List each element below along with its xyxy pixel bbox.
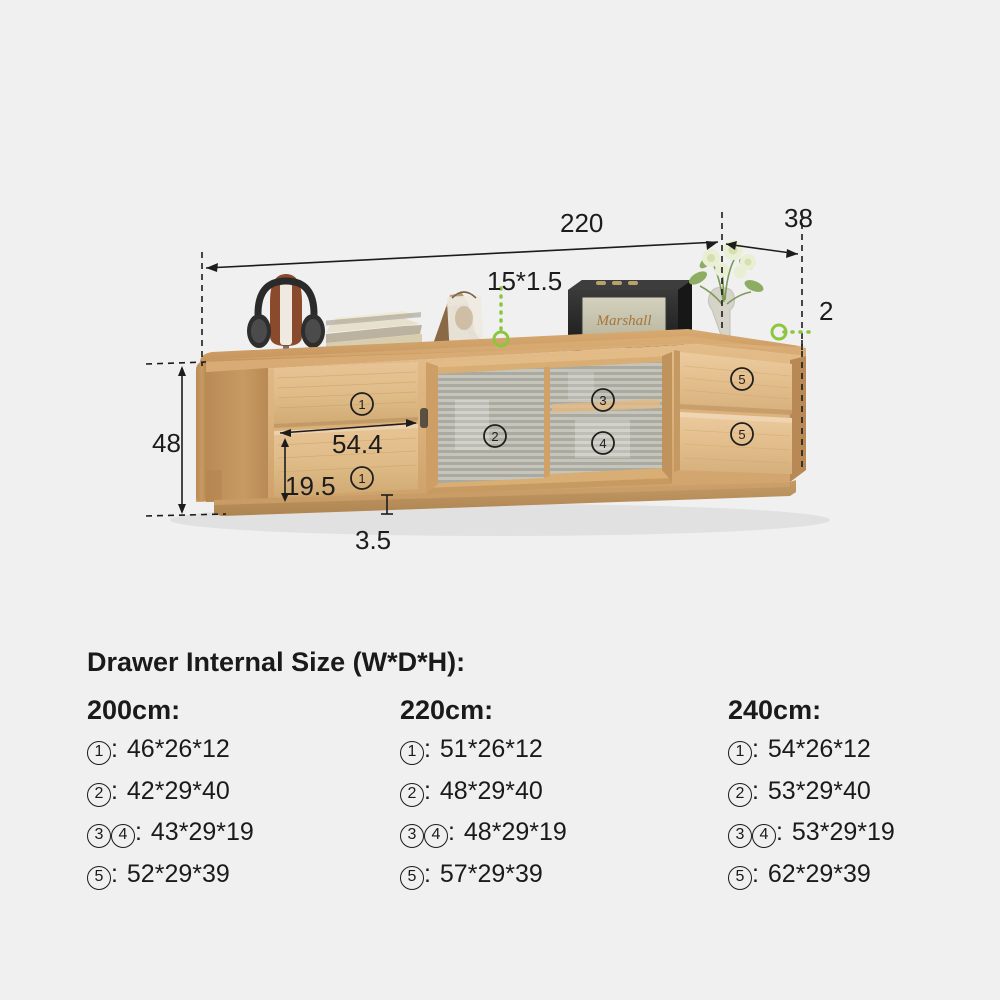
spec-row: 5: 52*29*39 [87,857,254,893]
svg-text:Marshall: Marshall [595,313,651,329]
dimension-label-plinth-3-5: 3.5 [355,527,391,553]
spec-value: 54*26*12 [768,735,871,763]
dimension-label-depth-38: 38 [784,205,813,231]
spec-value: 46*26*12 [127,735,230,763]
specs-title: Drawer Internal Size (W*D*H): [87,647,465,678]
product-dimension-illustration: Marshall [0,0,1000,620]
spec-row: 34: 43*29*19 [87,815,254,851]
svg-text:5: 5 [738,427,745,442]
spec-row: 1: 46*26*12 [87,732,254,768]
spec-row: 34: 53*29*19 [728,815,895,851]
callout-circle-2: 2 [728,783,752,807]
cabinet-right-side [790,356,806,482]
spec-value: 62*29*39 [768,860,871,888]
callout-circle-5: 5 [400,866,424,890]
callout-circle-1: 1 [400,741,424,765]
spec-row: 1: 51*26*12 [400,732,567,768]
callout-circle-2: 2 [400,783,424,807]
svg-text:1: 1 [358,471,365,486]
spec-row: 2: 48*29*40 [400,774,567,810]
spec-value: 53*29*19 [792,818,895,846]
callout-circle-4: 4 [111,824,135,848]
spec-value: 53*29*40 [768,777,871,805]
dimension-label-width-220: 220 [560,210,603,236]
spec-value: 57*29*39 [440,860,543,888]
spec-column-220cm: 220cm: 1: 51*26*12 2: 48*29*40 34: 48*29… [400,695,567,898]
callout-circle-3: 3 [87,824,111,848]
spec-value: 52*29*39 [127,860,230,888]
callout-circle-4: 4 [424,824,448,848]
spec-row: 5: 57*29*39 [400,857,567,893]
callout-circle-5: 5 [728,866,752,890]
spec-row: 1: 54*26*12 [728,732,895,768]
dimension-label-height-48: 48 [152,430,181,456]
callout-circle-1: 1 [728,741,752,765]
dim-arrow-220 [206,241,718,272]
svg-text:2: 2 [491,429,498,444]
spec-column-title: 200cm: [87,695,254,726]
callout-circle-3: 3 [400,824,424,848]
spec-value: 43*29*19 [151,818,254,846]
dimension-label-drawer-54-4: 54.4 [332,431,383,457]
dimension-label-drawer-19-5: 19.5 [285,473,336,499]
cabinet-left-side [196,360,206,502]
spec-value: 42*29*40 [127,777,230,805]
headphones-decor [247,274,325,360]
spec-column-200cm: 200cm: 1: 46*26*12 2: 42*29*40 34: 43*29… [87,695,254,898]
glass-cabinet-doors[interactable] [420,350,672,494]
callout-circle-1: 1 [87,741,111,765]
diagram-page: Marshall [0,0,1000,1000]
spec-row: 5: 62*29*39 [728,857,895,893]
spec-row: 2: 53*29*40 [728,774,895,810]
spec-column-240cm: 240cm: 1: 54*26*12 2: 53*29*40 34: 53*29… [728,695,895,898]
callout-circle-3: 3 [728,824,752,848]
spec-column-title: 240cm: [728,695,895,726]
spec-value: 51*26*12 [440,735,543,763]
callout-circle-4: 4 [752,824,776,848]
dimension-label-edge-15x1-5: 15*1.5 [487,268,562,294]
svg-text:4: 4 [599,436,606,451]
drawer-size-specs: Drawer Internal Size (W*D*H): 200cm: 1: … [0,620,1000,1000]
callout-circle-2: 2 [87,783,111,807]
spec-row: 34: 48*29*19 [400,815,567,851]
cabinet-svg: Marshall [0,0,1000,620]
spec-value: 48*29*19 [464,818,567,846]
spec-value: 48*29*40 [440,777,543,805]
left-drawer-upper[interactable] [274,362,418,428]
svg-text:3: 3 [599,393,606,408]
callout-circle-5: 5 [87,866,111,890]
svg-text:5: 5 [738,372,745,387]
spec-row: 2: 42*29*40 [87,774,254,810]
ext-line-48-top [146,362,206,364]
svg-text:1: 1 [358,397,365,412]
dimension-label-top-2: 2 [819,298,833,324]
spec-column-title: 220cm: [400,695,567,726]
photo-frame-decor [432,292,483,347]
